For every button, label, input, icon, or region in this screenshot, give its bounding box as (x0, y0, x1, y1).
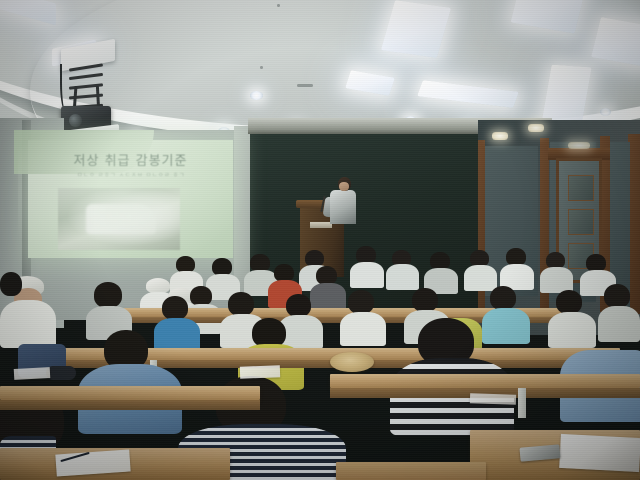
shoe (46, 366, 76, 380)
ceiling-downlight (250, 91, 263, 100)
desk-leg (518, 388, 526, 418)
ceiling-projector (55, 52, 125, 142)
handout-paper (470, 393, 516, 405)
white-cap (146, 278, 170, 293)
projector-scissor-lift (69, 66, 103, 108)
head (228, 292, 254, 316)
torso (310, 283, 346, 311)
lecture-hall-photograph: 저상 취급 감봉기준 ㅁㄴㅇ ㄹㅎㄱ ㅅㄷㅈㅂ ㅁㄴㅇㄹ ㅎㄱ (0, 0, 640, 480)
slide-photo (58, 188, 180, 250)
speaker-body (330, 190, 356, 224)
wall-light (528, 124, 544, 132)
head (94, 282, 122, 308)
projection-screen: 저상 취급 감봉기준 ㅁㄴㅇ ㄹㅎㄱ ㅅㄷㅈㅂ ㅁㄴㅇㄹ ㅎㄱ (28, 140, 233, 258)
ceiling-downlight (600, 108, 611, 116)
slide-title: 저상 취급 감봉기준 (28, 150, 233, 169)
handout-paper (240, 365, 280, 378)
door-panel (568, 175, 594, 201)
head (0, 272, 22, 296)
head (162, 296, 188, 320)
wall-light (492, 132, 508, 140)
projector-cable (60, 64, 70, 112)
ceiling-speck (260, 66, 263, 69)
torso (0, 300, 56, 348)
slide-photo-subject (86, 204, 156, 234)
ceiling-speck (297, 84, 313, 87)
speaker-face (339, 182, 349, 191)
head (604, 284, 630, 308)
desk-foreground-center (336, 462, 486, 480)
slide-subtitle: ㅁㄴㅇ ㄹㅎㄱ ㅅㄷㅈㅂ ㅁㄴㅇㄹ ㅎㄱ (38, 170, 224, 179)
head (412, 288, 438, 312)
handout-paper (559, 434, 640, 472)
wall-light (568, 142, 590, 149)
head (556, 290, 582, 314)
torso (350, 262, 384, 288)
projector-lens-icon (69, 114, 82, 127)
torso (548, 312, 596, 348)
desk-row-front-right (330, 374, 640, 388)
torso (464, 265, 497, 291)
torso (340, 312, 386, 346)
head (286, 294, 311, 317)
torso (386, 264, 419, 290)
torso (154, 318, 200, 352)
torso (482, 308, 530, 344)
scissor-bar (69, 73, 103, 80)
head (348, 290, 374, 314)
straw-hat (330, 352, 374, 372)
handout-paper (14, 367, 51, 380)
head (490, 286, 516, 310)
ceiling-speck (277, 4, 280, 7)
door-panel (568, 209, 594, 235)
desk-apron (0, 400, 260, 410)
head (190, 286, 212, 306)
torso (598, 306, 640, 342)
desk-row-front-left (0, 386, 260, 400)
podium-nameplate (310, 222, 332, 228)
